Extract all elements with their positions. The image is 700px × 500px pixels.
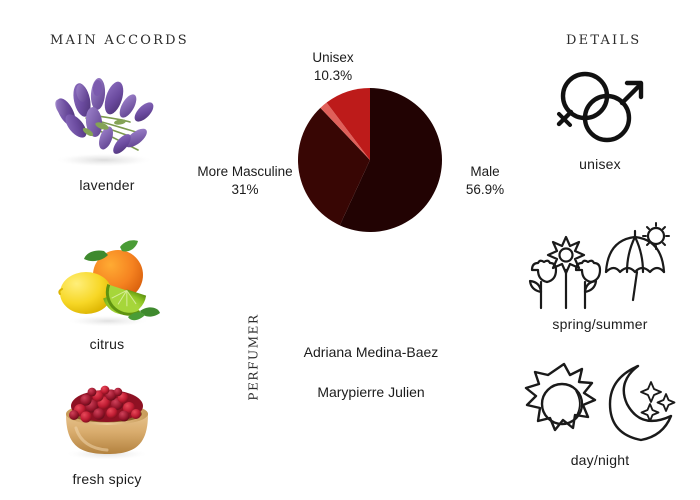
detail-label: spring/summer [505, 316, 695, 332]
pie-slices [298, 88, 442, 232]
fresh-spicy-photo [32, 372, 182, 467]
pie-label-more-masculine-name: More Masculine [197, 164, 292, 179]
berries-bowl-illustration [32, 372, 182, 467]
flowers-umbrella-sun-icon [518, 222, 683, 314]
gender-pie-chart: Unisex 10.3% More Masculine 31% Male 56.… [188, 45, 518, 265]
accord-label: fresh spicy [12, 471, 202, 487]
accord-label: lavender [12, 177, 202, 193]
gender-unisex-icon [545, 62, 655, 154]
sun-moon-icon [520, 358, 680, 450]
fragrance-summary-page: MAIN ACCORDS [0, 0, 700, 500]
lavender-illustration [32, 78, 182, 173]
lavender-photo [32, 78, 182, 173]
pie-label-male-value: 56.9% [450, 181, 520, 199]
detail-item-day-night: day/night [505, 358, 695, 468]
details-heading: DETAILS [566, 33, 641, 48]
accord-item-lavender: lavender [12, 78, 202, 193]
detail-figure [505, 62, 695, 154]
detail-label: day/night [505, 452, 695, 468]
accord-label: citrus [12, 336, 202, 352]
main-accords-heading: MAIN ACCORDS [50, 33, 189, 48]
detail-figure [505, 358, 695, 450]
detail-item-spring-summer: spring/summer [505, 222, 695, 332]
pie-label-unisex: Unisex 10.3% [288, 49, 378, 85]
detail-item-unisex: unisex [505, 62, 695, 172]
citrus-photo [32, 237, 182, 332]
pie-label-more-masculine-value: 31% [190, 181, 300, 199]
perfumer-block: PERFUMER Adriana Medina-Baez Marypierre … [228, 332, 458, 422]
pie-label-unisex-name: Unisex [312, 50, 353, 65]
pie-label-unisex-value: 10.3% [288, 67, 378, 85]
pie-label-more-masculine: More Masculine 31% [190, 163, 300, 199]
detail-figure [505, 222, 695, 314]
perfumer-name: Adriana Medina-Baez [276, 344, 466, 360]
perfumer-heading: PERFUMER [247, 313, 261, 400]
accord-item-citrus: citrus [12, 237, 202, 352]
perfumer-name: Marypierre Julien [276, 384, 466, 400]
accord-item-fresh-spicy: fresh spicy [12, 372, 202, 487]
detail-label: unisex [505, 156, 695, 172]
citrus-illustration [32, 237, 182, 332]
pie-label-male-name: Male [470, 164, 499, 179]
